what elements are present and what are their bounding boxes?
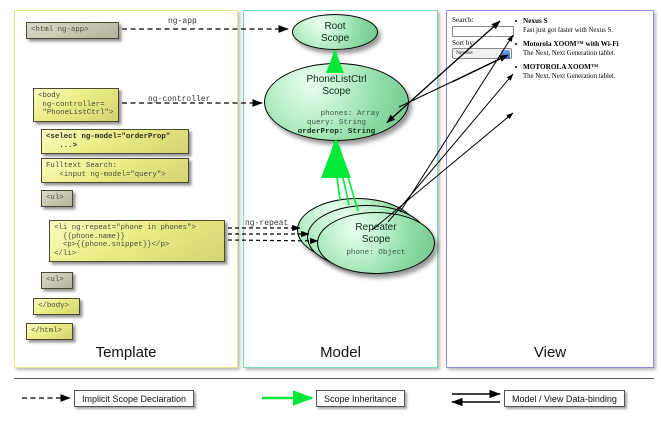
scope-repeater-props: phone: Object	[318, 249, 434, 258]
view-phone-name[interactable]: Nexus S	[514, 16, 646, 26]
legend-item-model-view-databinding: Model / View Data-binding	[504, 390, 625, 407]
column-view-label: View	[447, 344, 653, 361]
list-item: Motorola XOOM™ with Wi-Fi The Next, Next…	[514, 39, 646, 59]
view-sort-select[interactable]: Newest	[452, 48, 512, 59]
code-box-search: Fulltext Search: <input ng-model="query"…	[41, 158, 189, 183]
column-template-label: Template	[15, 344, 237, 361]
code-box-li-ngrepeat: <li ng-repeat="phone in phones"> {{phone…	[49, 220, 225, 262]
scope-repeater-title-line2: Scope	[318, 234, 434, 246]
column-model-label: Model	[244, 344, 437, 361]
view-phone-name[interactable]: MOTOROLA XOOM™	[514, 62, 646, 72]
chevron-updown-icon	[501, 50, 510, 59]
edge-label-ng-controller: ng-controller	[148, 95, 210, 104]
code-box-html-end: </html>	[26, 323, 73, 340]
view-phone-snippet: Fast just got faster with Nexus S.	[514, 26, 646, 36]
code-box-body: <body ng-controller= "PhoneListCtrl">	[33, 88, 119, 122]
list-item: Nexus S Fast just got faster with Nexus …	[514, 16, 646, 36]
edge-label-ng-repeat: ng-repeat	[245, 219, 288, 228]
legend-divider	[14, 378, 654, 379]
scope-phonelistctrl-props-orderprop: orderProp: String	[298, 128, 375, 136]
view-phone-snippet: The Next, Next Generation tablet.	[514, 72, 646, 82]
code-box-ul-open: <ul>	[41, 190, 73, 207]
legend-item-implicit-scope-declaration: Implicit Scope Declaration	[74, 390, 194, 407]
scope-phonelistctrl-title-line1: PhoneListCtrl	[265, 74, 408, 86]
view-search-input[interactable]	[452, 26, 514, 37]
scope-phonelistctrl: PhoneListCtrl Scope phones: Array query:…	[264, 63, 409, 141]
list-item: MOTOROLA XOOM™ The Next, Next Generation…	[514, 62, 646, 82]
scope-phonelistctrl-props: phones: Array query: String	[307, 110, 380, 127]
view-phone-list: Nexus S Fast just got faster with Nexus …	[514, 16, 646, 85]
view-phone-snippet: The Next, Next Generation tablet.	[514, 49, 646, 59]
code-box-ul-close: <ul>	[41, 272, 73, 289]
view-sort-selected-value: Newest	[456, 50, 473, 56]
edge-label-ng-app: ng-app	[168, 17, 197, 26]
view-phone-name[interactable]: Motorola XOOM™ with Wi-Fi	[514, 39, 646, 49]
scope-root: Root Scope	[292, 14, 378, 50]
code-box-html: <html ng-app>	[26, 22, 119, 39]
diagram-canvas: Template Model View <html ng-app> <body …	[0, 0, 661, 425]
scope-phonelistctrl-title-line2: Scope	[265, 86, 408, 98]
scope-repeater: Repeater Scope phone: Object	[317, 212, 435, 274]
view-app-preview: Search: Sort by: Newest Nexus S Fast jus…	[452, 16, 648, 136]
scope-root-title-line2: Scope	[293, 33, 377, 45]
legend-item-scope-inheritance: Scope Inheritance	[316, 390, 405, 407]
scope-root-title-line1: Root	[293, 21, 377, 33]
code-box-body-end: </body>	[33, 298, 80, 315]
scope-repeater-title-line1: Repeater	[318, 222, 434, 234]
code-box-select: <select ng-model="orderProp" ...>	[41, 129, 189, 154]
